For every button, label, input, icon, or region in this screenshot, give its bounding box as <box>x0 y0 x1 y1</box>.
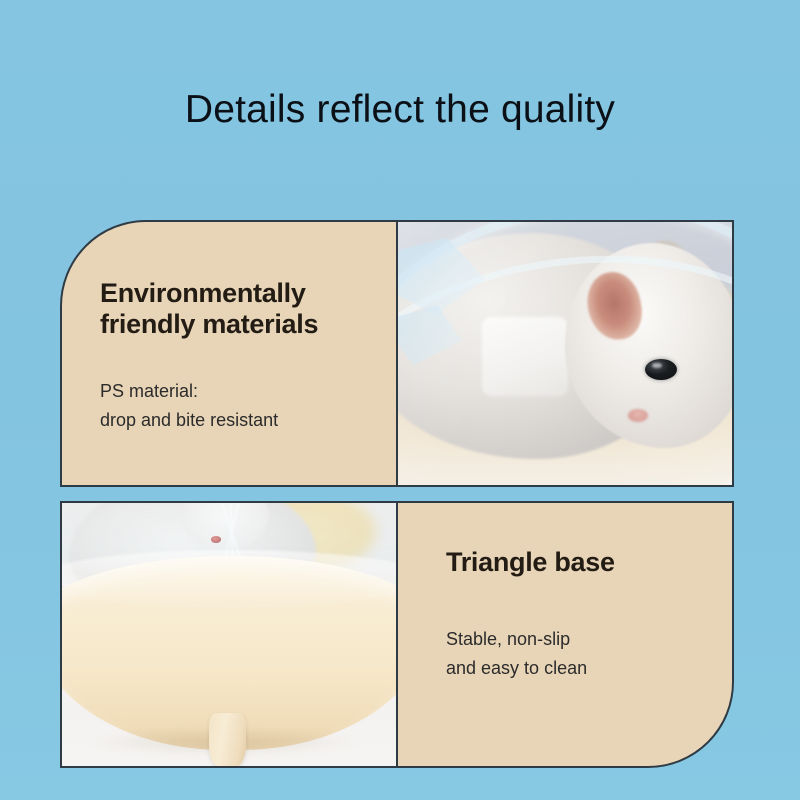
triangle-support-leg <box>209 713 246 766</box>
cream-bowl-base-with-leg-photo <box>60 501 398 768</box>
feature-panel-triangle-base: Triangle base Stable, non-slip and easy … <box>396 501 734 768</box>
feature-row-bottom: Triangle base Stable, non-slip and easy … <box>60 501 736 768</box>
feature-panel-environmentally-friendly-materials: Environmentally friendly materials PS ma… <box>60 220 398 487</box>
feature-body-triangle-base: Stable, non-slip and easy to clean <box>446 625 716 683</box>
hamster-in-clear-wheel-photo <box>396 220 734 487</box>
hamster-eye <box>645 359 677 380</box>
feature-heading-environmentally-friendly-materials: Environmentally friendly materials <box>100 278 390 340</box>
feature-grid: Environmentally friendly materials PS ma… <box>60 220 736 769</box>
hamster-eye <box>211 536 222 543</box>
feature-heading-triangle-base: Triangle base <box>446 547 716 578</box>
page-title: Details reflect the quality <box>0 88 800 133</box>
hamster-cheek-patch <box>482 317 569 396</box>
feature-row-top: Environmentally friendly materials PS ma… <box>60 220 736 487</box>
feature-body-environmentally-friendly-materials: PS material: drop and bite resistant <box>100 377 380 435</box>
cream-bowl-rim-highlight <box>60 550 398 608</box>
